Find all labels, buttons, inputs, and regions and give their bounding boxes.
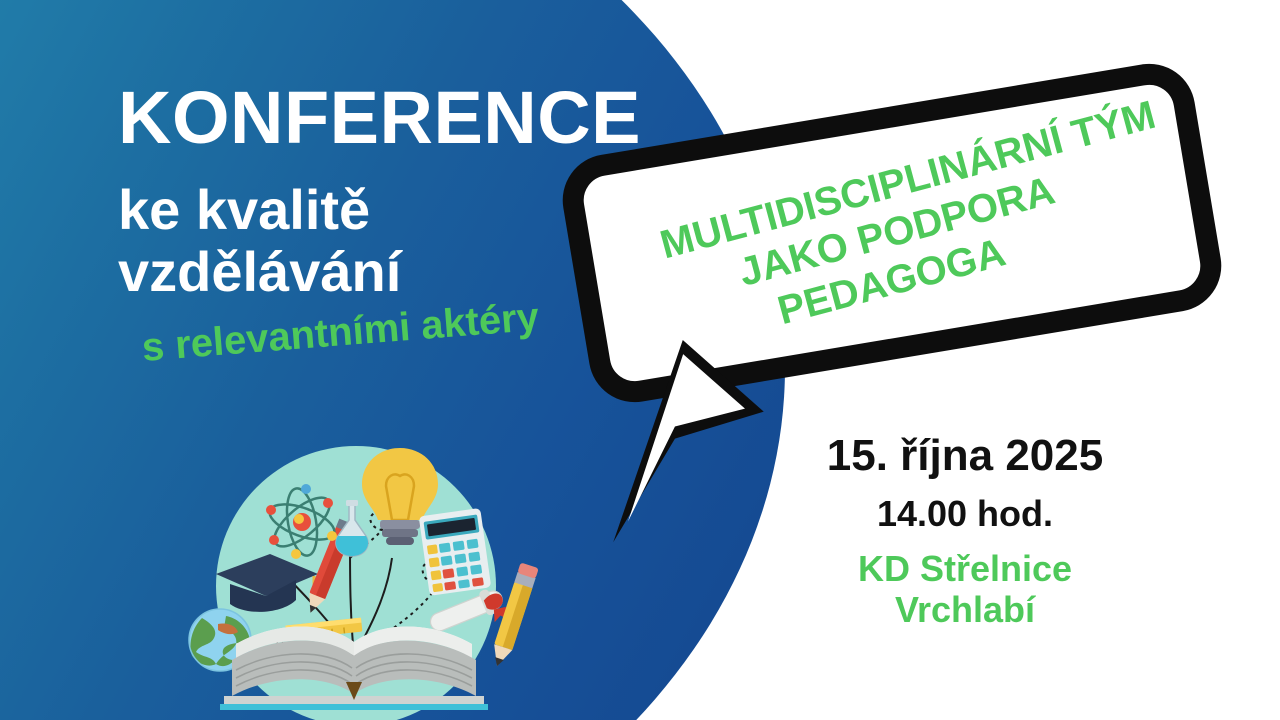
event-details: 15. října 2025 14.00 hod. KD Střelnice V… (770, 432, 1160, 631)
event-venue-name: KD Střelnice (770, 548, 1160, 589)
event-venue-city: Vrchlabí (770, 589, 1160, 630)
calculator-icon (419, 508, 492, 596)
headline-konference: KONFERENCE (118, 82, 738, 155)
conference-poster: KONFERENCE ke kvalitě vzdělávání s relev… (0, 0, 1280, 720)
event-time: 14.00 hod. (770, 494, 1160, 534)
open-book-education-illustration (178, 438, 548, 720)
event-date: 15. října 2025 (770, 432, 1160, 480)
speech-bubble-tail (563, 319, 795, 559)
